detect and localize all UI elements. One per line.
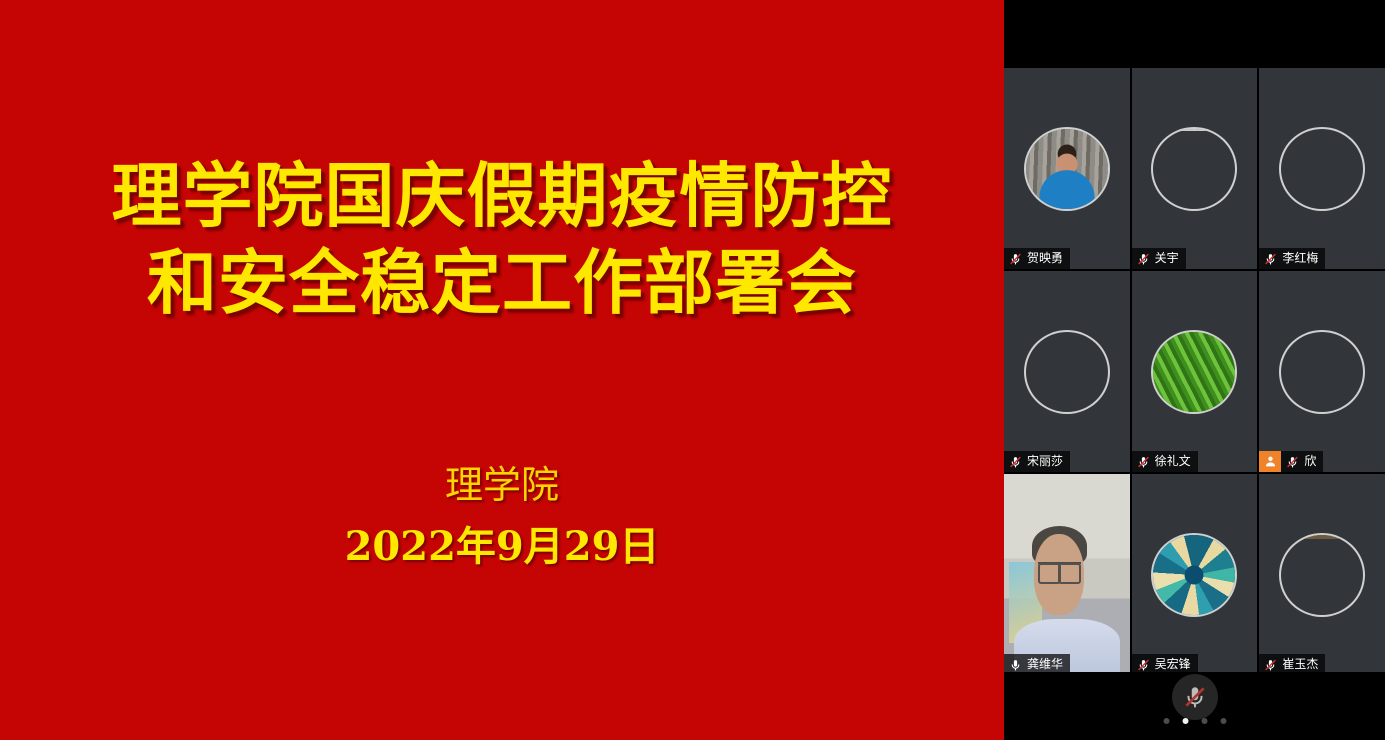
participant-tile[interactable]: 贺映勇	[1004, 68, 1130, 269]
participant-tile[interactable]: 关宇	[1132, 68, 1258, 269]
page-dot[interactable]	[1201, 718, 1207, 724]
mic-muted-icon	[1009, 455, 1022, 469]
avatar	[1026, 129, 1108, 209]
mic-muted-icon	[1137, 658, 1150, 672]
avatar	[1281, 332, 1363, 412]
participant-name: 欣	[1304, 451, 1316, 472]
host-badge	[1259, 451, 1281, 472]
page-indicator-dots[interactable]	[1163, 718, 1226, 724]
slide-title: 理学院国庆假期疫情防控 和安全稳定工作部署会	[0, 152, 1004, 326]
slide-date: 2022年9月29日	[0, 520, 1004, 574]
participant-panel: 贺映勇 关宇	[1004, 0, 1385, 740]
mic-muted-icon	[1182, 684, 1208, 710]
avatar	[1153, 332, 1235, 412]
mute-toggle-button[interactable]	[1172, 674, 1218, 720]
participant-tile[interactable]: 李红梅	[1259, 68, 1385, 269]
participant-grid: 贺映勇 关宇	[1004, 68, 1385, 675]
participant-tile[interactable]: 宋丽莎	[1004, 271, 1130, 472]
host-person-icon	[1264, 455, 1277, 468]
avatar	[1281, 129, 1363, 209]
mic-muted-icon	[1286, 455, 1299, 469]
participant-tile[interactable]: 欣	[1259, 271, 1385, 472]
mic-unmuted-icon	[1009, 658, 1022, 672]
participant-tile[interactable]: 徐礼文	[1132, 271, 1258, 472]
participant-namebar: 宋丽莎	[1004, 451, 1070, 472]
participant-name: 关宇	[1155, 248, 1179, 269]
page-dot[interactable]	[1163, 718, 1169, 724]
avatar	[1153, 535, 1235, 615]
panel-top-spacer	[1004, 0, 1385, 68]
participant-name: 贺映勇	[1027, 248, 1063, 269]
participant-namebar: 欣	[1281, 451, 1323, 472]
meeting-screen: 理学院国庆假期疫情防控 和安全稳定工作部署会 理学院 2022年9月29日 贺映…	[0, 0, 1385, 740]
participant-tile[interactable]: 龚维华	[1004, 474, 1130, 675]
participant-namebar: 关宇	[1132, 248, 1186, 269]
shared-screen-slide[interactable]: 理学院国庆假期疫情防控 和安全稳定工作部署会 理学院 2022年9月29日	[0, 0, 1004, 740]
video-stream	[1004, 474, 1130, 675]
mic-muted-icon	[1264, 252, 1277, 266]
slide-organization: 理学院	[0, 460, 1004, 510]
participant-namebar: 徐礼文	[1132, 451, 1198, 472]
avatar	[1153, 129, 1235, 209]
mic-muted-icon	[1137, 252, 1150, 266]
participant-namebar: 李红梅	[1259, 248, 1325, 269]
participant-namebar: 贺映勇	[1004, 248, 1070, 269]
avatar	[1281, 535, 1363, 615]
participant-name: 李红梅	[1282, 248, 1318, 269]
bottom-control-bar	[1004, 672, 1385, 740]
page-dot[interactable]	[1220, 718, 1226, 724]
participant-tile[interactable]: 吴宏锋	[1132, 474, 1258, 675]
avatar	[1026, 332, 1108, 412]
participant-name: 徐礼文	[1155, 451, 1191, 472]
mic-muted-icon	[1009, 252, 1022, 266]
page-dot-active[interactable]	[1182, 718, 1188, 724]
mic-muted-icon	[1137, 455, 1150, 469]
mic-muted-icon	[1264, 658, 1277, 672]
participant-name: 宋丽莎	[1027, 451, 1063, 472]
participant-tile[interactable]: 崔玉杰	[1259, 474, 1385, 675]
